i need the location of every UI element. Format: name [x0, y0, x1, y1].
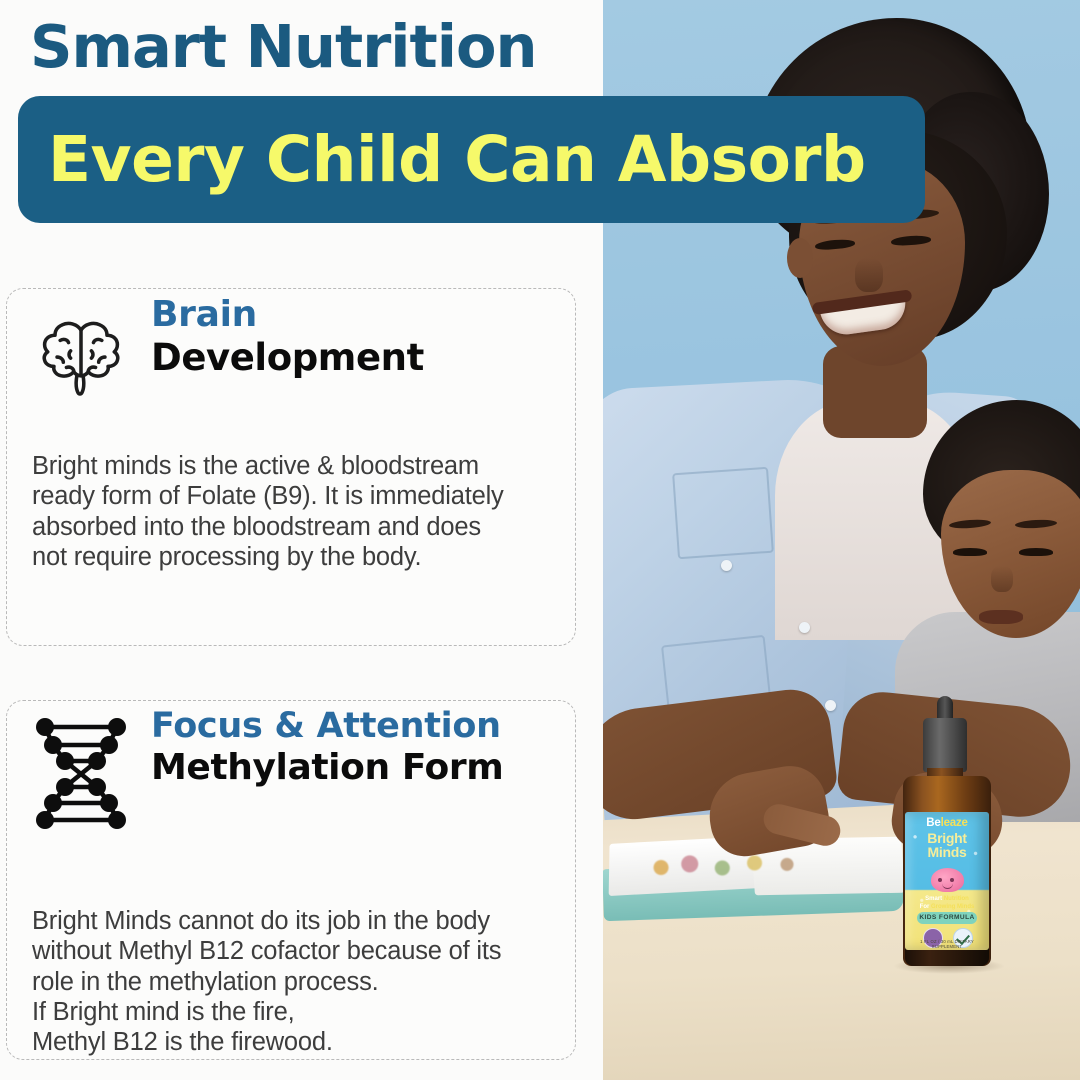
- card-body-text: Bright Minds cannot do its job in the bo…: [32, 906, 557, 1058]
- child-mouth: [979, 610, 1023, 624]
- child-eye-left: [953, 548, 987, 556]
- tagline-2b: Growing Minds: [931, 904, 974, 910]
- dna-helix-icon: [31, 717, 131, 829]
- card-title-group: Focus & Attention Methylation Form: [151, 707, 503, 789]
- product-name-line1: Bright: [905, 831, 989, 845]
- tagline-2a: For: [920, 904, 931, 910]
- card-header: Brain Development: [7, 289, 575, 409]
- product-brand: Beleaze: [905, 817, 989, 829]
- bottle-label: Beleaze Bright Minds Smart Nutrition For…: [905, 812, 989, 950]
- label-brain-mascot-icon: [931, 868, 964, 892]
- mother-ear: [787, 238, 813, 278]
- brand-title: Smart Nutrition: [30, 16, 575, 78]
- child-eye-right: [1019, 548, 1053, 556]
- denim-button-1: [721, 560, 732, 571]
- info-card-focus-attention: Focus & Attention Methylation Form Brigh…: [6, 700, 576, 1060]
- card-header: Focus & Attention Methylation Form: [7, 701, 575, 821]
- brand-leaze: leaze: [941, 817, 968, 829]
- denim-button-4: [825, 700, 836, 711]
- tagline-1b: Nutrition: [944, 896, 969, 902]
- product-tagline: Smart Nutrition For Growing Minds: [905, 896, 989, 911]
- card-title-main: Methylation Form: [151, 748, 503, 788]
- brain-icon: [29, 303, 133, 407]
- product-name-line2: Minds: [905, 845, 989, 859]
- tagline-line-2: For Growing Minds: [905, 904, 989, 912]
- mother-nose: [855, 258, 883, 292]
- card-body-text: Bright minds is the active & bloodstream…: [32, 451, 557, 572]
- card-title-sub: Focus & Attention: [151, 707, 503, 746]
- kids-formula-badge: KIDS FORMULA: [917, 912, 977, 924]
- brand-be: Be: [926, 817, 940, 829]
- poster-canvas: Beleaze Bright Minds Smart Nutrition For…: [0, 0, 1080, 1080]
- tagline-line-1: Smart Nutrition: [905, 896, 989, 904]
- headline-banner: Every Child Can Absorb: [18, 96, 925, 223]
- denim-button-3: [799, 622, 810, 633]
- child-nose: [991, 566, 1013, 592]
- label-footer-text: 1 FL OZ / 30 mL DIETARY SUPPLEMENT: [905, 939, 989, 949]
- dropper-cap: [923, 718, 967, 772]
- product-name: Bright Minds: [905, 831, 989, 859]
- denim-pocket-upper: [672, 467, 774, 559]
- info-card-brain-development: Brain Development Bright minds is the ac…: [6, 288, 576, 646]
- card-title-main: Development: [151, 337, 424, 378]
- product-bottle: Beleaze Bright Minds Smart Nutrition For…: [899, 718, 995, 968]
- card-title-sub: Brain: [151, 295, 424, 335]
- card-title-group: Brain Development: [151, 295, 424, 379]
- headline-text: Every Child Can Absorb: [18, 123, 866, 196]
- tagline-1a: Smart: [925, 896, 944, 902]
